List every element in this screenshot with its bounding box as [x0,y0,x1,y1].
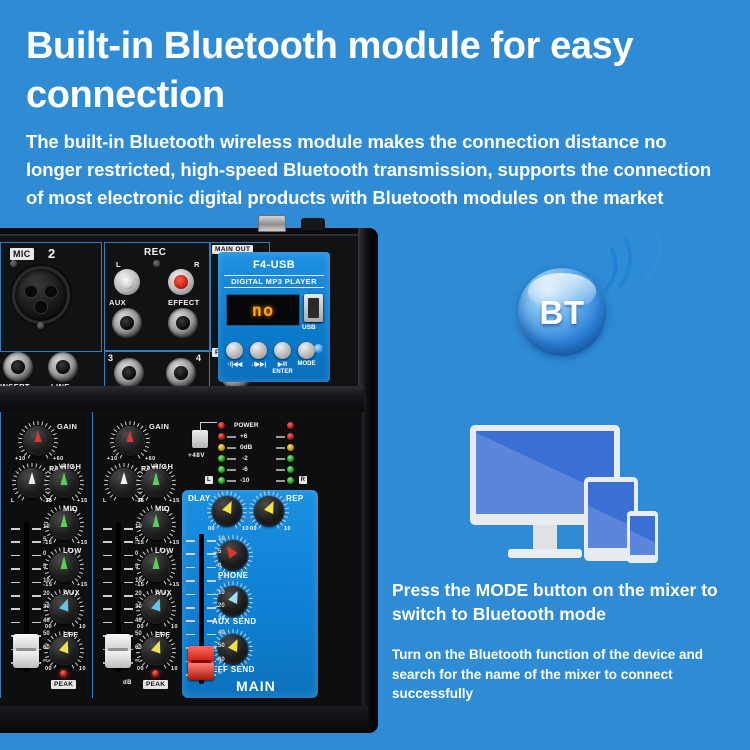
aux-max-ch1: 10 [79,624,86,630]
aux-min-ch1: 00 [45,624,52,630]
play-pause-enter-button[interactable] [274,342,291,359]
instruction-secondary: Turn on the Bluetooth function of the de… [392,645,740,704]
mixer-rear-panel: MIC 2 INSERT LINE REC L R AUX EFFECT [0,234,358,388]
power-led-right [287,422,294,429]
meter-led-right-minus2 [287,455,294,462]
channel-fader-2[interactable]: 10505102030405060∞ [103,522,133,672]
high-eq-knob-ch1[interactable] [49,468,79,498]
rec-left-label: L [116,260,121,269]
gain-min-ch2: +10 [107,456,118,462]
aux-jack[interactable] [112,308,142,338]
mp3-subtitle-label: DIGITAL MP3 PLAYER [224,275,324,288]
meter-led-right-minus6 [287,466,294,473]
channel-strip-2: GAIN +10 +60 PAN L R HIGH -15 +15 MID [92,412,181,698]
bt-label: BT [518,294,606,332]
meter-dash-left-minus6 [227,469,236,471]
aux-label-ch1: AUX [63,588,80,597]
insert-jack[interactable] [3,352,33,382]
meter-left-channel-label: L [205,476,213,484]
meter-dash-right-minus10 [276,480,285,482]
smartphone-icon [627,511,658,563]
meter-row-minus2: -2 [218,455,294,464]
mixer-control-surface: GAIN +10 +60 PAN L R HIGH -15 +15 MID [0,412,362,706]
effect-jack[interactable] [168,308,198,338]
high-max-ch1: +15 [77,498,88,504]
meter-right-channel-label: R [299,476,307,484]
line-4-label: 4 [196,353,201,363]
meter-label-minus2: -2 [242,455,248,462]
mixer-bottom-edge [0,706,368,732]
meter-led-left-minus10 [218,477,225,484]
meter-led-left-plus6 [218,433,225,440]
page-description: The built-in Bluetooth wireless module m… [26,128,726,211]
high-max-ch2: +15 [169,498,180,504]
peak-label-ch2: PEAK [143,680,168,689]
led-level-meter: POWER +6 0dB [218,422,294,482]
meter-dash-left-0db [227,447,236,449]
meter-row-power: POWER [218,422,294,431]
aux-min-ch2: 00 [137,624,144,630]
meter-label-minus6: -6 [242,466,248,473]
phantom-switch-wire [200,422,217,433]
low-eq-knob-ch2[interactable] [141,552,171,582]
high-label-ch2: HIGH [153,462,173,471]
eff-min-ch1: 00 [45,666,52,672]
pan-knob-ch2[interactable] [109,468,139,498]
pan-l-ch2: L [103,498,107,504]
line-jack-ch2[interactable] [48,352,78,382]
eff-knob-ch2[interactable] [141,636,171,666]
rca-jack-right[interactable] [168,269,194,295]
gain-knob-ch2[interactable] [115,426,145,456]
phone-knob[interactable] [218,540,248,570]
mid-eq-knob-ch2[interactable] [141,510,171,540]
phone-label: PHONE [218,571,248,580]
meter-label-minus10: -10 [240,477,249,484]
phantom-label: +48V [188,452,205,459]
rca-jack-left[interactable] [114,269,140,295]
devices-illustration [470,425,670,575]
enter-label: ENTER [266,369,299,375]
bt-sphere: BT [518,268,606,356]
peak-led-ch2 [152,670,159,677]
line-jack-3[interactable] [114,358,144,388]
meter-dash-left-minus10 [227,480,236,482]
eff-knob-ch1[interactable] [49,636,79,666]
high-label-ch1: HIGH [61,462,81,471]
usb-label: USB [302,324,316,331]
meter-led-left-0db [218,444,225,451]
mp3-model-label: F4-USB [218,259,330,271]
mixer-hinge-ridge [0,386,364,412]
meter-dash-left-plus6 [227,436,236,438]
rec-right-label: R [194,260,200,269]
mode-label: MODE [292,361,321,367]
power-led-left [218,422,225,429]
xlr-mic-jack[interactable] [12,266,70,324]
meter-led-left-minus2 [218,455,225,462]
meter-dash-right-plus6 [276,436,285,438]
power-label: POWER [234,422,259,429]
rep-max-label: 10 [284,526,291,532]
peak-label-ch1: PEAK [51,680,76,689]
mic-label: MIC [10,248,34,260]
low-label-ch2: LOW [155,546,174,555]
mp3-display-value: no [227,301,299,321]
gain-min-ch1: +10 [15,456,26,462]
bluetooth-badge: BT [508,228,698,358]
mode-button[interactable] [298,342,315,359]
mp3-player-panel: F4-USB DIGITAL MP3 PLAYER no USB ↑/|◀◀ ↓… [218,252,330,382]
dlay-label: DLAY [188,494,211,503]
high-eq-knob-ch2[interactable] [141,468,171,498]
audio-mixer-device: MIC 2 INSERT LINE REC L R AUX EFFECT [0,228,378,733]
bluetooth-signal-waves-icon [600,228,680,314]
gain-knob-ch1[interactable] [23,426,53,456]
aux-max-ch2: 10 [171,624,178,630]
meter-led-right-0db [287,444,294,451]
mp3-lcd-display: no [226,294,300,326]
pan-l-ch1: L [11,498,15,504]
dlay-max-label: 10 [242,526,249,532]
main-label: MAIN [236,678,276,694]
rec-label: REC [144,247,166,258]
meter-row-minus6: -6 [218,466,294,475]
pan-knob-ch1[interactable] [17,468,47,498]
product-marketing-image: Built-in Bluetooth module for easy conne… [0,0,750,750]
meter-led-right-plus6 [287,433,294,440]
fader-cap-2[interactable] [105,634,131,668]
dlay-knob[interactable] [212,496,242,526]
rep-label: REP [286,494,304,503]
effect-label: EFFECT [168,298,200,307]
monitor-stand-base [508,549,582,558]
channel-strip-1: GAIN +10 +60 PAN L R HIGH -15 +15 MID [0,412,89,698]
meter-dash-left-minus2 [227,458,236,460]
meter-label-0db: 0dB [240,444,252,451]
meter-dash-right-0db [276,447,285,449]
smartphone-screen [630,516,655,555]
eff-label-ch1: EFF [63,630,78,639]
aux-label: AUX [109,298,126,307]
channel-fader-1[interactable]: 10505102030405060∞ [11,522,41,672]
top-black-tab [301,218,325,230]
mid-label-ch1: MID [63,504,78,513]
peak-led-ch1 [60,670,67,677]
line-jack-4[interactable] [166,358,196,388]
meter-dash-right-minus2 [276,458,285,460]
meter-row-0db: 0dB [218,444,294,453]
aux-label-ch2: AUX [155,588,172,597]
mid-label-ch2: MID [155,504,170,513]
low-eq-knob-ch1[interactable] [49,552,79,582]
aux-knob-ch2[interactable] [141,594,171,624]
line-3-label: 3 [108,353,113,363]
bluetooth-indicator-icon [314,344,323,353]
aux-knob-ch1[interactable] [49,594,79,624]
usb-port[interactable] [304,294,323,322]
rep-min-label: 00 [250,526,257,532]
eff-label-ch2: EFF [155,630,170,639]
main-fader-cap[interactable] [188,646,214,680]
meter-led-left-minus6 [218,466,225,473]
main-fader[interactable]: 10505102030405060∞ [186,534,216,684]
meter-row-minus10: L -10 R [218,477,294,486]
meter-led-right-minus10 [287,477,294,484]
eff-max-ch2: 10 [171,666,178,672]
mic-channel-number: 2 [48,246,56,261]
page-title: Built-in Bluetooth module for easy conne… [26,22,666,119]
rep-knob[interactable] [254,496,284,526]
xlr-screw-top [10,260,17,267]
eff-max-ch1: 10 [79,666,86,672]
rec-screw [153,260,160,267]
meter-dash-right-minus6 [276,469,285,471]
high-min-ch1: -15 [43,498,52,504]
gain-label-ch2: GAIN [149,422,169,431]
eff-min-ch2: 00 [137,666,144,672]
down-next-button[interactable] [250,342,267,359]
up-prev-button[interactable] [226,342,243,359]
xlr-screw-bottom [37,322,44,329]
low-label-ch1: LOW [63,546,82,555]
mid-eq-knob-ch1[interactable] [49,510,79,540]
dlay-min-label: 00 [208,526,215,532]
master-blue-panel: DLAY REP 00 10 00 10 PHONE [182,490,318,698]
gain-label-ch1: GAIN [57,422,77,431]
fader-cap-1[interactable] [13,634,39,668]
meter-row-plus6: +6 [218,433,294,442]
top-rotary-connector [258,215,286,232]
high-min-ch2: -15 [135,498,144,504]
db-label-ch2: dB [123,680,132,686]
meter-label-plus6: +6 [240,433,247,440]
instruction-primary: Press the MODE button on the mixer to sw… [392,578,744,626]
